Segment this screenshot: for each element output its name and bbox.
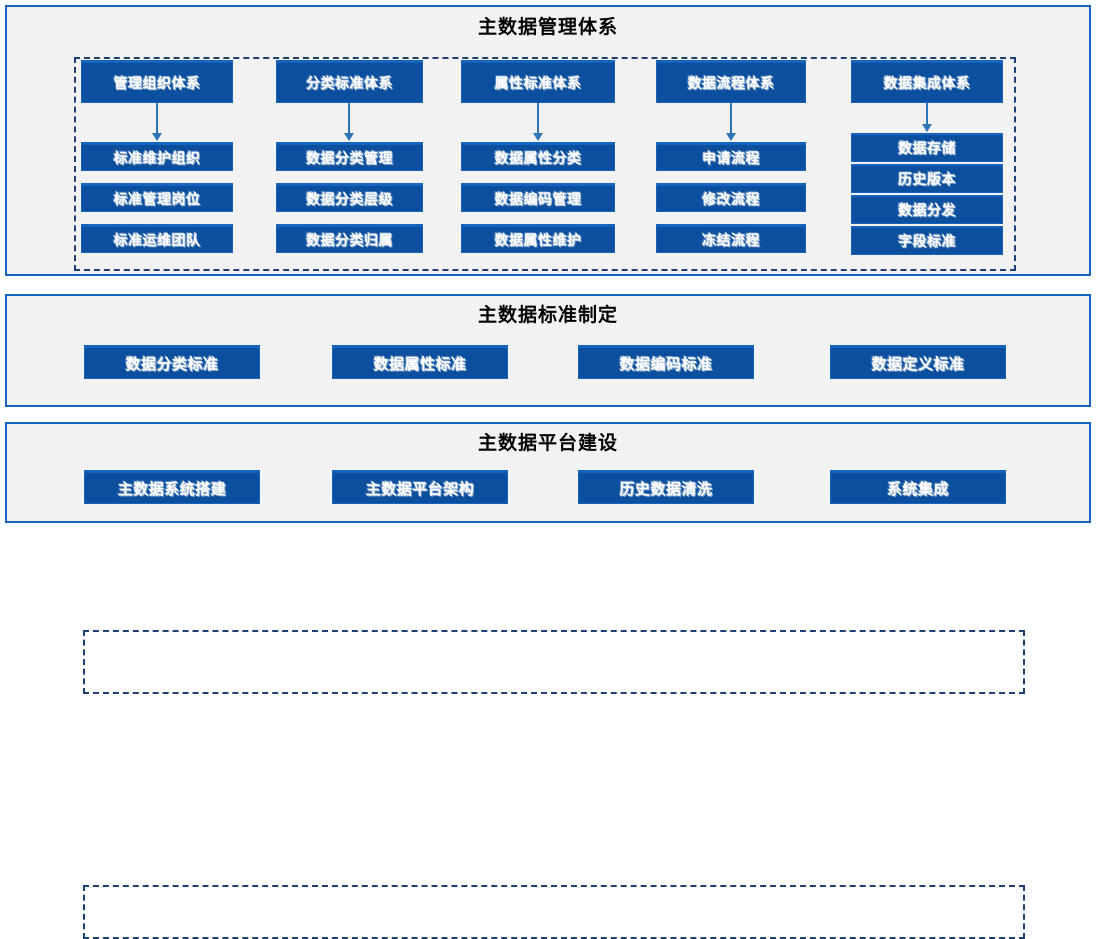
panel-title: 主数据平台建设 [7, 432, 1089, 456]
node-col5-sub-2[interactable]: 数据分发 [851, 195, 1003, 224]
arrow-col2 [348, 103, 350, 134]
node-platform-item-1[interactable]: 主数据平台架构 [332, 470, 508, 504]
node-standard-item-2[interactable]: 数据编码标准 [578, 345, 754, 379]
node-col5-sub-3[interactable]: 字段标准 [851, 226, 1003, 255]
node-col1-sub-2[interactable]: 标准运维团队 [81, 224, 233, 253]
node-col4-sub-1[interactable]: 修改流程 [656, 183, 806, 212]
arrow-col5 [926, 103, 928, 125]
node-col5-head[interactable]: 数据集成体系 [851, 60, 1003, 103]
node-platform-item-0[interactable]: 主数据系统搭建 [84, 470, 260, 504]
node-standard-item-0[interactable]: 数据分类标准 [84, 345, 260, 379]
node-col1-sub-0[interactable]: 标准维护组织 [81, 142, 233, 171]
node-col2-sub-1[interactable]: 数据分类层级 [276, 183, 423, 212]
node-col4-sub-2[interactable]: 冻结流程 [656, 224, 806, 253]
node-col2-sub-0[interactable]: 数据分类管理 [276, 142, 423, 171]
node-platform-item-3[interactable]: 系统集成 [830, 470, 1006, 504]
node-col3-sub-0[interactable]: 数据属性分类 [461, 142, 615, 171]
node-col4-sub-0[interactable]: 申请流程 [656, 142, 806, 171]
node-col2-head[interactable]: 分类标准体系 [276, 60, 423, 103]
arrow-col3 [537, 103, 539, 134]
node-col4-head[interactable]: 数据流程体系 [656, 60, 806, 103]
node-col3-sub-1[interactable]: 数据编码管理 [461, 183, 615, 212]
dashed-group-container [83, 885, 1025, 939]
panel-title: 主数据标准制定 [7, 304, 1089, 328]
node-col5-sub-0[interactable]: 数据存储 [851, 133, 1003, 162]
node-standard-item-3[interactable]: 数据定义标准 [830, 345, 1006, 379]
panel-title: 主数据管理体系 [7, 16, 1089, 40]
node-standard-item-1[interactable]: 数据属性标准 [332, 345, 508, 379]
node-col1-head[interactable]: 管理组织体系 [81, 60, 233, 103]
arrow-col4 [730, 103, 732, 134]
dashed-group-container [83, 630, 1025, 694]
node-platform-item-2[interactable]: 历史数据清洗 [578, 470, 754, 504]
node-col2-sub-2[interactable]: 数据分类归属 [276, 224, 423, 253]
arrow-col1 [156, 103, 158, 134]
node-col1-sub-1[interactable]: 标准管理岗位 [81, 183, 233, 212]
node-col5-sub-1[interactable]: 历史版本 [851, 164, 1003, 193]
node-col3-sub-2[interactable]: 数据属性维护 [461, 224, 615, 253]
diagram-canvas: 主数据管理体系 主数据标准制定 [0, 0, 1096, 528]
node-col3-head[interactable]: 属性标准体系 [461, 60, 615, 103]
